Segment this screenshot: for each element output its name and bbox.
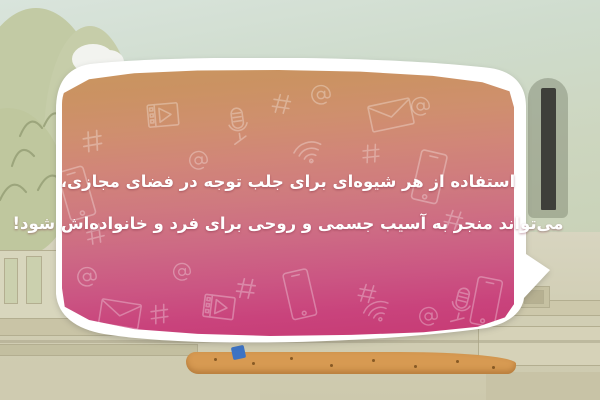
smartphone-icon (62, 166, 96, 222)
hashtag-icon (270, 92, 294, 116)
sand-speck (290, 357, 293, 360)
wifi-icon (364, 296, 396, 324)
hashtag-icon (360, 142, 383, 165)
envelope-icon (368, 98, 414, 132)
hashtag-icon (80, 128, 106, 154)
sand-speck (330, 364, 333, 367)
hashtag-icon (442, 208, 466, 232)
at-sign-icon (172, 262, 192, 282)
at-sign-icon (188, 150, 209, 171)
video-player-icon (202, 294, 236, 320)
building-window (4, 258, 18, 304)
sand-speck (214, 358, 217, 361)
sand-speck (456, 360, 459, 363)
video-player-icon (146, 102, 180, 128)
smartphone-icon (412, 150, 448, 206)
poster-canvas: استفاده از هر شیوه‌ای برای جلب توجه در ف… (0, 0, 600, 400)
hashtag-icon (234, 276, 259, 301)
at-sign-icon (76, 266, 98, 288)
sand-speck (252, 362, 255, 365)
speech-bubble: استفاده از هر شیوه‌ای برای جلب توجه در ف… (50, 58, 550, 350)
speech-bubble-body (62, 70, 514, 336)
building-window (26, 256, 42, 304)
wifi-icon (294, 136, 328, 166)
hashtag-icon (148, 302, 172, 326)
sand-speck (492, 366, 495, 369)
at-sign-icon (418, 306, 439, 327)
smartphone-icon (284, 268, 318, 322)
microphone-icon (226, 106, 252, 148)
at-sign-icon (310, 84, 332, 106)
hashtag-icon (84, 222, 108, 246)
pavement-block (486, 372, 600, 400)
sand-speck (372, 359, 375, 362)
sand-speck (414, 365, 417, 368)
watermark-icon-layer (62, 70, 514, 336)
